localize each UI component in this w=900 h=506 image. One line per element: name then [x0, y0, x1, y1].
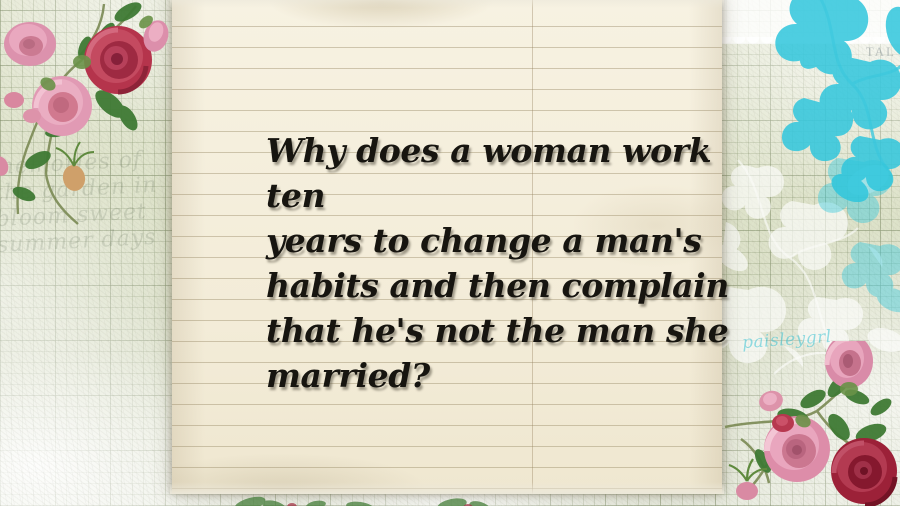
- torn-edge-top: [170, 0, 724, 8]
- red-rose: [84, 26, 152, 94]
- pink-rose-top: [825, 341, 873, 388]
- scrapbook-quote-image: memories of the garden in bloom sweet su…: [0, 0, 900, 506]
- quote-text: Why does a woman work ten years to chang…: [266, 128, 736, 398]
- bottom-edge-shade: [0, 484, 900, 506]
- pink-rose-upper: [4, 22, 56, 66]
- rose-cluster-bottom-right: [721, 341, 900, 506]
- rose-cluster-top-left: [0, 0, 176, 248]
- pink-rose-lower: [32, 76, 92, 136]
- teal-floral-damask-lower: [744, 150, 900, 320]
